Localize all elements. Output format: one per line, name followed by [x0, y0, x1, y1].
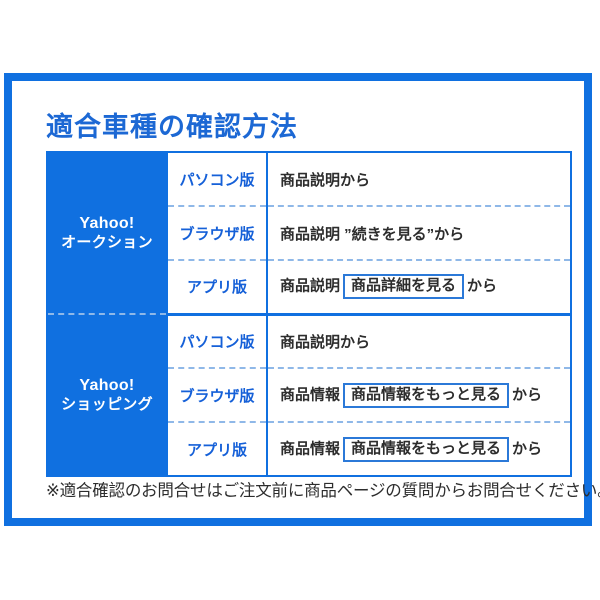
table-row: Yahoo! オークション パソコン版 商品説明から	[47, 152, 571, 206]
description-prefix: 商品情報	[280, 386, 340, 403]
brand-label-line2: ショッピング	[48, 396, 166, 414]
description-suffix: から	[512, 386, 542, 403]
description-cell: 商品情報商品情報をもっと見るから	[267, 368, 571, 422]
description-cell: 商品説明商品詳細を見るから	[267, 260, 571, 314]
description-cell: 商品説明 ”続きを見る”から	[267, 206, 571, 260]
ui-button-reference: 商品情報をもっと見る	[343, 383, 509, 408]
description-suffix: から	[467, 278, 497, 295]
device-label: ブラウザ版	[167, 368, 267, 422]
table-body: Yahoo! オークション パソコン版 商品説明から ブラウザ版 商品説明 ”続…	[47, 152, 571, 476]
description-cell: 商品説明から	[267, 314, 571, 368]
brand-label-line2: オークション	[48, 234, 166, 252]
brand-cell-shopping: Yahoo! ショッピング	[47, 314, 167, 476]
device-label: アプリ版	[167, 260, 267, 314]
frame-inner-panel: 適合車種の確認方法 Yahoo! オークション パソコン版	[12, 81, 584, 518]
ui-button-reference: 商品詳細を見る	[343, 274, 464, 299]
device-label: アプリ版	[167, 422, 267, 476]
device-label: パソコン版	[167, 314, 267, 368]
page-root: 適合車種の確認方法 Yahoo! オークション パソコン版	[0, 0, 600, 600]
description-prefix: 商品情報	[280, 440, 340, 457]
blue-border-frame: 適合車種の確認方法 Yahoo! オークション パソコン版	[4, 73, 592, 526]
page-title: 適合車種の確認方法	[46, 105, 298, 144]
brand-cell-auction: Yahoo! オークション	[47, 152, 167, 314]
footer-note: ※適合確認のお問合せはご注文前に商品ページの質問からお問合せください。	[46, 477, 600, 501]
brand-label-line1: Yahoo!	[48, 377, 166, 396]
compatibility-table: Yahoo! オークション パソコン版 商品説明から ブラウザ版 商品説明 ”続…	[46, 151, 572, 477]
description-cell: 商品情報商品情報をもっと見るから	[267, 422, 571, 476]
brand-label-line1: Yahoo!	[48, 215, 166, 234]
description-prefix: 商品説明	[280, 278, 340, 295]
description-prefix: 商品説明 ”続きを見る”から	[280, 226, 464, 243]
device-label: ブラウザ版	[167, 206, 267, 260]
description-cell: 商品説明から	[267, 152, 571, 206]
description-suffix: から	[512, 440, 542, 457]
device-label: パソコン版	[167, 152, 267, 206]
description-prefix: 商品説明から	[280, 172, 370, 189]
ui-button-reference: 商品情報をもっと見る	[343, 437, 509, 462]
description-prefix: 商品説明から	[280, 334, 370, 351]
table-row: Yahoo! ショッピング パソコン版 商品説明から	[47, 314, 571, 368]
